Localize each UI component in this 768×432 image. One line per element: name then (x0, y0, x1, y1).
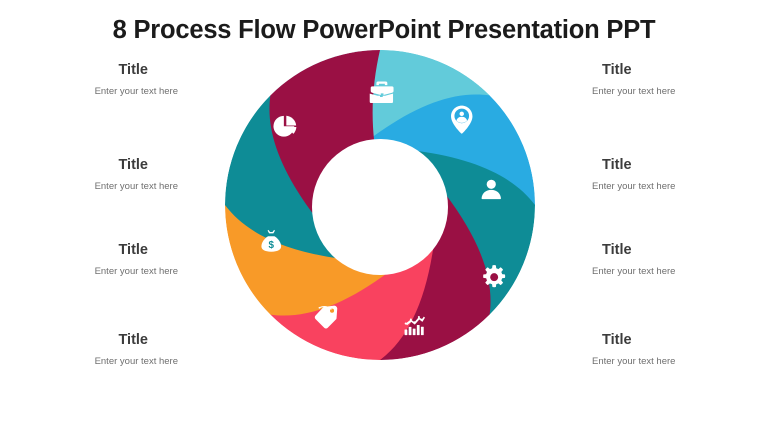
label-block-left-4[interactable]: Title Enter your text here (10, 333, 188, 367)
label-block-left-2[interactable]: Title Enter your text here (10, 158, 188, 192)
process-flow-wheel: $ (222, 47, 538, 363)
label-subtitle: Enter your text here (580, 182, 758, 192)
page-title: 8 Process Flow PowerPoint Presentation P… (0, 16, 768, 45)
label-block-right-1[interactable]: Title Enter your text here (580, 63, 758, 97)
label-title: Title (580, 158, 758, 174)
label-block-left-1[interactable]: Title Enter your text here (10, 63, 188, 97)
label-subtitle: Enter your text here (10, 267, 188, 277)
label-title: Title (10, 63, 188, 79)
label-block-left-3[interactable]: Title Enter your text here (10, 243, 188, 277)
label-block-right-4[interactable]: Title Enter your text here (580, 333, 758, 367)
label-title: Title (10, 333, 188, 349)
wheel-center-hole (312, 139, 448, 275)
label-subtitle: Enter your text here (10, 182, 188, 192)
label-title: Title (580, 243, 758, 259)
label-title: Title (580, 63, 758, 79)
label-title: Title (580, 333, 758, 349)
label-block-right-3[interactable]: Title Enter your text here (580, 243, 758, 277)
label-title: Title (10, 243, 188, 259)
label-subtitle: Enter your text here (10, 87, 188, 97)
slide-canvas: 8 Process Flow PowerPoint Presentation P… (0, 0, 768, 432)
label-subtitle: Enter your text here (580, 267, 758, 277)
label-subtitle: Enter your text here (10, 357, 188, 367)
svg-text:$: $ (269, 240, 275, 251)
label-subtitle: Enter your text here (580, 357, 758, 367)
label-block-right-2[interactable]: Title Enter your text here (580, 158, 758, 192)
label-subtitle: Enter your text here (580, 87, 758, 97)
label-title: Title (10, 158, 188, 174)
